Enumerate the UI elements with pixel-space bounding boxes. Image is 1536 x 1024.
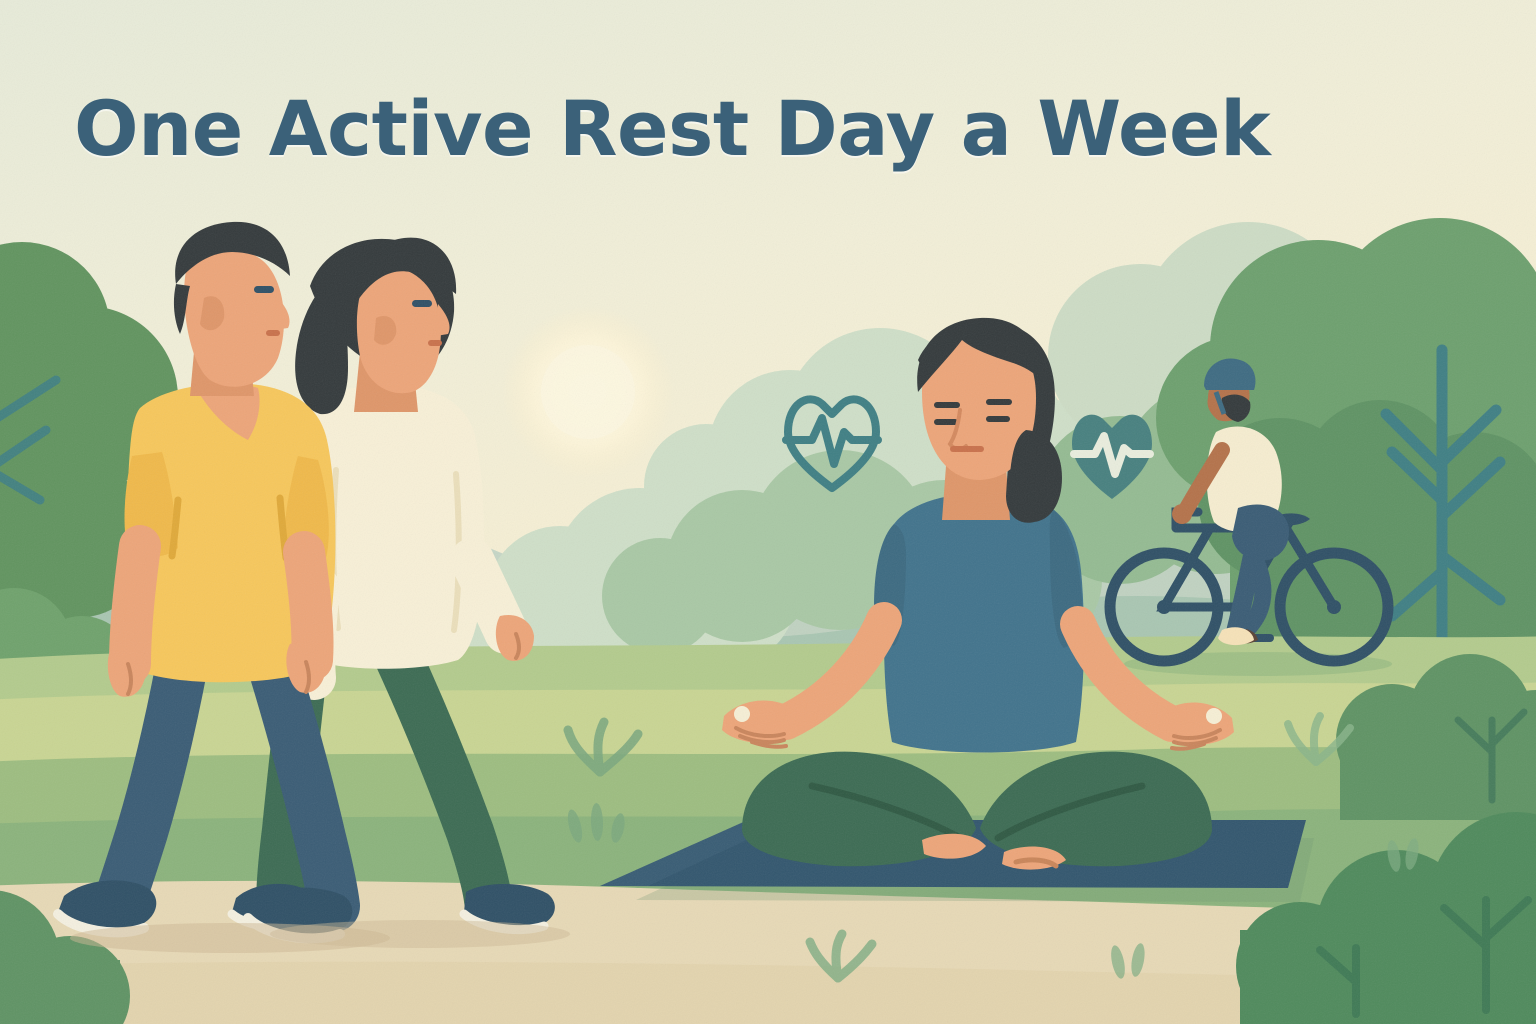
- grain-overlay: [0, 0, 1536, 1024]
- poster-illustration: One Active Rest Day a Week: [0, 0, 1536, 1024]
- scene-artwork: [0, 0, 1536, 1024]
